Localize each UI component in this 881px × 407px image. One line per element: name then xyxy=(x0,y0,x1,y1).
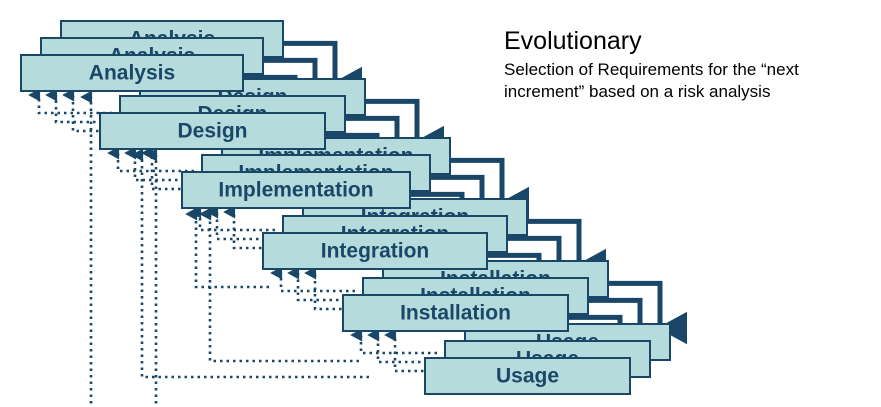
feedback-arrow xyxy=(200,212,275,230)
stage-connector-arrow xyxy=(608,283,660,328)
feedback-arrow-long xyxy=(196,214,269,287)
stage-box: Usage xyxy=(425,358,630,394)
stage-label: Implementation xyxy=(218,179,373,202)
legend-block: Evolutionary Selection of Requirements f… xyxy=(504,28,864,104)
stage-box: Installation xyxy=(343,295,568,331)
feedback-arrow xyxy=(39,95,112,113)
stage-label: Design xyxy=(177,120,247,143)
stage-label: Usage xyxy=(496,365,559,388)
legend-subtitle: Selection of Requirements for the “next … xyxy=(504,59,859,104)
stage-label: Analysis xyxy=(89,62,175,85)
stage-connector-arrow xyxy=(527,221,579,265)
legend-title: Evolutionary xyxy=(504,28,864,56)
stage-box: Integration xyxy=(263,233,487,269)
evolutionary-waterfall-diagram: AnalysisDesignImplementationIntegrationI… xyxy=(0,0,881,407)
stage-box: Analysis xyxy=(21,55,243,91)
stage-label: Installation xyxy=(400,302,511,325)
stage-box: Design xyxy=(100,113,325,149)
feedback-arrow xyxy=(361,335,437,353)
stage-box: Implementation xyxy=(182,172,410,208)
stage-label: Integration xyxy=(321,240,430,263)
feedback-arrow xyxy=(281,273,355,291)
